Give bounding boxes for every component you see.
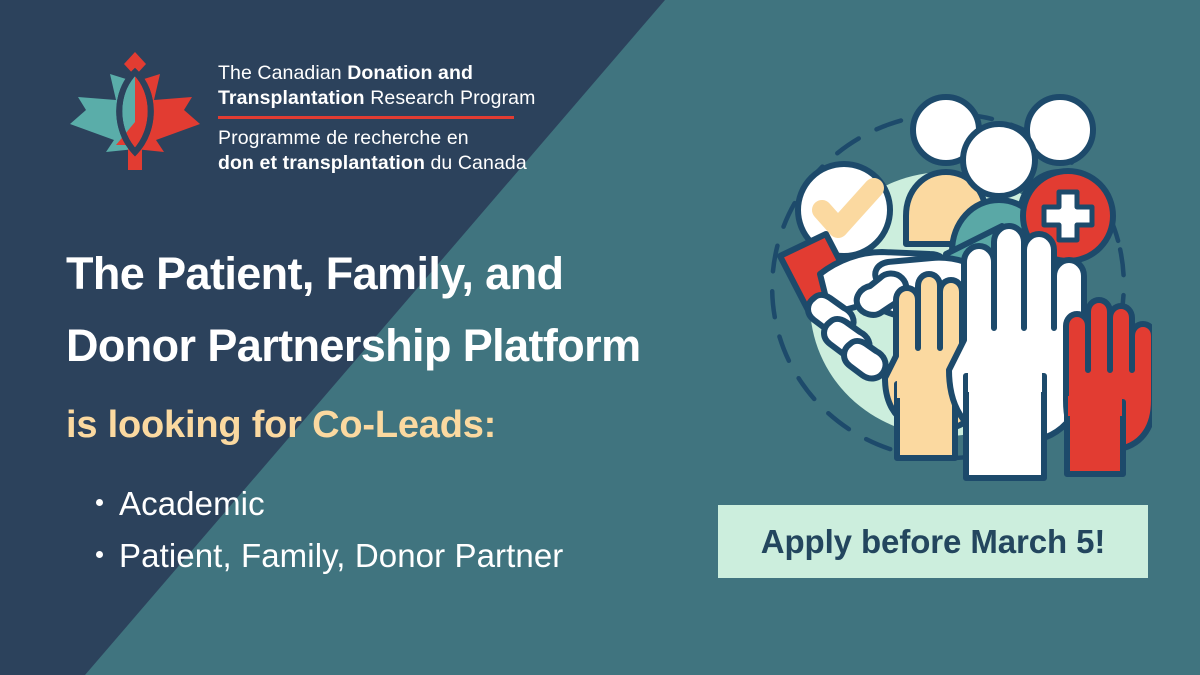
logo-en-1-light: The Canadian (218, 62, 347, 84)
subtitle: is looking for Co-Leads: (66, 400, 496, 450)
maple-leaf-logo-icon (66, 52, 204, 178)
bullet-dot-icon (96, 499, 103, 506)
list-item: Academic (96, 478, 563, 530)
list-item-label: Academic (119, 478, 265, 530)
logo-english-line-2: Transplantation Research Program (218, 86, 535, 111)
raised-hand-red-icon (1066, 300, 1152, 474)
logo-french-line-2: don et transplantation du Canada (218, 151, 535, 176)
headline-line-2: Donor Partnership Platform (66, 310, 766, 382)
logo-fr-2-light: du Canada (425, 152, 527, 174)
apply-deadline-banner[interactable]: Apply before March 5! (718, 505, 1148, 578)
organization-logo: The Canadian Donation and Transplantatio… (66, 52, 535, 178)
logo-en-1-bold: Donation and (347, 62, 473, 84)
page-title: The Patient, Family, and Donor Partnersh… (66, 238, 766, 382)
logo-english-line-1: The Canadian Donation and (218, 61, 535, 86)
logo-fr-1-light: Programme de recherche en (218, 127, 469, 149)
apply-deadline-text: Apply before March 5! (761, 523, 1105, 561)
list-item-label: Patient, Family, Donor Partner (119, 530, 563, 582)
logo-en-2-bold: Transplantation (218, 87, 365, 109)
logo-wordmark: The Canadian Donation and Transplantatio… (218, 52, 535, 175)
co-lead-role-list: Academic Patient, Family, Donor Partner (96, 478, 563, 582)
partnership-illustration-graphic (748, 88, 1152, 492)
poster-canvas: The Canadian Donation and Transplantatio… (0, 0, 1200, 675)
logo-fr-2-bold: don et transplantation (218, 152, 425, 174)
partnership-illustration (748, 88, 1152, 492)
list-item: Patient, Family, Donor Partner (96, 530, 563, 582)
logo-french-line-1: Programme de recherche en (218, 126, 535, 151)
bullet-dot-icon (96, 551, 103, 558)
logo-en-2-light: Research Program (365, 87, 536, 109)
logo-divider-rule (218, 116, 514, 119)
headline-line-1: The Patient, Family, and (66, 238, 766, 310)
